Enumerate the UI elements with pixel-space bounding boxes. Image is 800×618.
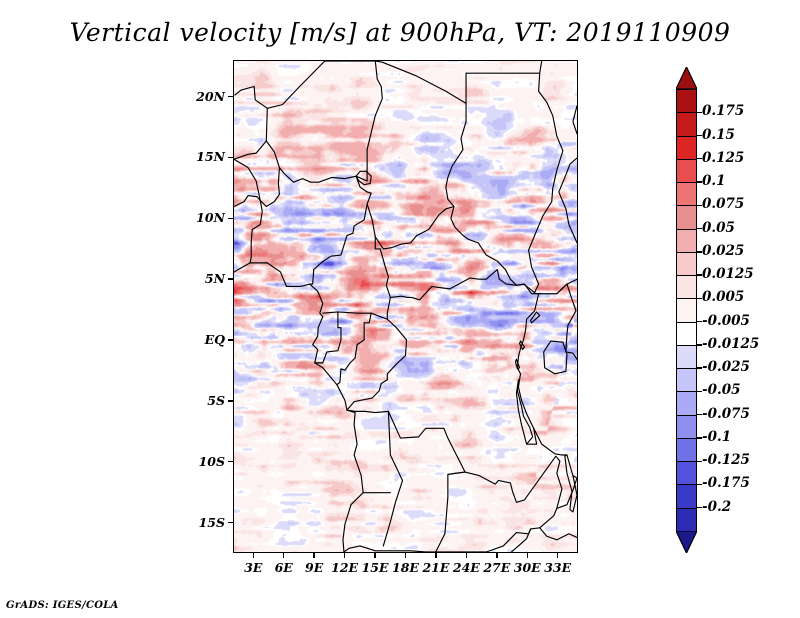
y-tick-mark — [228, 522, 233, 523]
colorbar — [676, 67, 697, 553]
colorbar-tick — [697, 437, 702, 438]
colorbar-band — [676, 182, 697, 206]
border-polyline — [323, 297, 391, 319]
y-tick-5S: 5S — [179, 393, 225, 408]
colorbar-label: 0.1 — [702, 173, 726, 189]
x-tick-mark — [253, 553, 254, 558]
colorbar-band — [676, 368, 697, 392]
y-tick-20N: 20N — [179, 89, 225, 104]
colorbar-tick — [697, 414, 702, 415]
y-tick-mark — [228, 218, 233, 219]
border-polyline — [347, 319, 407, 410]
x-tick-mark — [527, 553, 528, 558]
colorbar-tick — [697, 461, 702, 462]
colorbar-tick — [697, 391, 702, 392]
border-polyline — [516, 284, 538, 444]
border-polyline — [557, 284, 567, 294]
border-polyline — [529, 61, 563, 293]
x-tick-mark — [283, 553, 284, 558]
border-polyline — [325, 61, 383, 150]
colorbar-band — [676, 415, 697, 439]
colorbar-band — [676, 508, 697, 532]
colorbar-band — [676, 159, 697, 183]
colorbar-band — [676, 136, 697, 160]
border-polyline — [234, 159, 260, 200]
colorbar-tick — [697, 112, 702, 113]
y-tick-10N: 10N — [179, 210, 225, 225]
colorbar-tick — [697, 158, 702, 159]
colorbar-label: -0.005 — [702, 313, 750, 329]
x-tick-mark — [435, 553, 436, 558]
colorbar-label: -0.025 — [702, 359, 750, 375]
colorbar-tick — [697, 321, 702, 322]
colorbar-label: -0.1 — [702, 429, 731, 445]
border-polyline — [375, 61, 534, 293]
border-polyline — [266, 141, 367, 182]
y-tick-5N: 5N — [179, 271, 225, 286]
border-polyline — [436, 497, 448, 552]
y-tick-10S: 10S — [179, 454, 225, 469]
border-polyline — [315, 312, 341, 363]
colorbar-band — [676, 205, 697, 229]
colorbar-tick — [697, 344, 702, 345]
x-tick-33E: 33E — [538, 560, 578, 575]
colorbar-tick — [697, 205, 702, 206]
border-polyline — [539, 279, 577, 294]
colorbar-label: 0.125 — [702, 150, 744, 166]
border-polyline — [344, 546, 436, 552]
colorbar-tick — [697, 298, 702, 299]
border-polyline — [234, 263, 363, 552]
x-tick-mark — [466, 553, 467, 558]
x-tick-mark — [557, 553, 558, 558]
colorbar-label: -0.0125 — [702, 336, 759, 352]
y-tick-mark — [228, 278, 233, 279]
colorbar-band — [676, 229, 697, 253]
colorbar-band — [676, 112, 697, 136]
border-polyline — [347, 410, 465, 497]
colorbar-label: -0.125 — [702, 452, 750, 468]
colorbar-label: -0.05 — [702, 382, 740, 398]
colorbar-band — [676, 275, 697, 299]
colorbar-tick — [697, 181, 702, 182]
colorbar-tick — [697, 484, 702, 485]
border-polyline — [337, 313, 371, 385]
colorbar-band — [676, 461, 697, 485]
colorbar-label: 0.05 — [702, 220, 735, 236]
border-polyline — [250, 200, 262, 262]
colorbar-band — [676, 345, 697, 369]
y-tick-EQ: EQ — [179, 332, 225, 347]
border-polyline — [566, 284, 576, 352]
colorbar-band — [676, 322, 697, 346]
colorbar-label: 0.0125 — [702, 266, 754, 282]
border-polyline — [234, 168, 279, 207]
colorbar-label: -0.2 — [702, 499, 731, 515]
colorbar-tick — [697, 367, 702, 368]
colorbar-label: -0.175 — [702, 475, 750, 491]
colorbar-band — [676, 484, 697, 508]
border-polyline — [540, 528, 577, 540]
border-polyline — [310, 176, 372, 284]
colorbar-arrow-bottom — [676, 531, 697, 553]
border-polyline — [267, 61, 324, 108]
border-polyline — [559, 158, 577, 243]
y-tick-mark — [228, 157, 233, 158]
y-tick-15S: 15S — [179, 515, 225, 530]
x-tick-mark — [496, 553, 497, 558]
colorbar-label: 0.075 — [702, 196, 744, 212]
grads-attribution: GrADS: IGES/COLA — [6, 600, 119, 611]
x-tick-mark — [374, 553, 375, 558]
colorbar-label: -0.075 — [702, 406, 750, 422]
border-polyline — [544, 341, 567, 374]
y-tick-15N: 15N — [179, 149, 225, 164]
border-polyline — [573, 106, 577, 134]
colorbar-label: 0.005 — [702, 289, 744, 305]
x-tick-mark — [313, 553, 314, 558]
country-borders-coastlines — [234, 61, 577, 552]
border-polyline — [375, 207, 454, 249]
colorbar-band — [676, 438, 697, 462]
colorbar-tick — [697, 251, 702, 252]
colorbar-tick — [697, 274, 702, 275]
border-polyline — [511, 529, 530, 552]
colorbar-band — [676, 252, 697, 276]
y-tick-mark — [228, 400, 233, 401]
colorbar-band — [676, 391, 697, 415]
page-title: Vertical velocity [m/s] at 900hPa, VT: 2… — [0, 18, 800, 47]
border-polyline — [367, 204, 375, 237]
border-polyline — [566, 352, 577, 359]
colorbar-arrow-top — [676, 67, 697, 89]
x-tick-mark — [405, 553, 406, 558]
y-tick-mark — [228, 339, 233, 340]
y-tick-mark — [228, 96, 233, 97]
border-polyline — [448, 472, 465, 474]
border-polyline — [534, 428, 567, 455]
colorbar-tick — [697, 135, 702, 136]
border-polyline — [234, 86, 267, 159]
colorbar-label: 0.15 — [702, 127, 735, 143]
colorbar-band — [676, 89, 697, 113]
colorbar-tick — [697, 507, 702, 508]
colorbar-tick — [697, 228, 702, 229]
y-tick-mark — [228, 461, 233, 462]
border-polyline — [383, 411, 402, 546]
border-polyline — [465, 456, 562, 552]
colorbar-label: 0.025 — [702, 243, 744, 259]
map-plot-area — [233, 60, 578, 553]
colorbar-band — [676, 298, 697, 322]
colorbar-label: 0.175 — [702, 103, 744, 119]
x-tick-mark — [344, 553, 345, 558]
